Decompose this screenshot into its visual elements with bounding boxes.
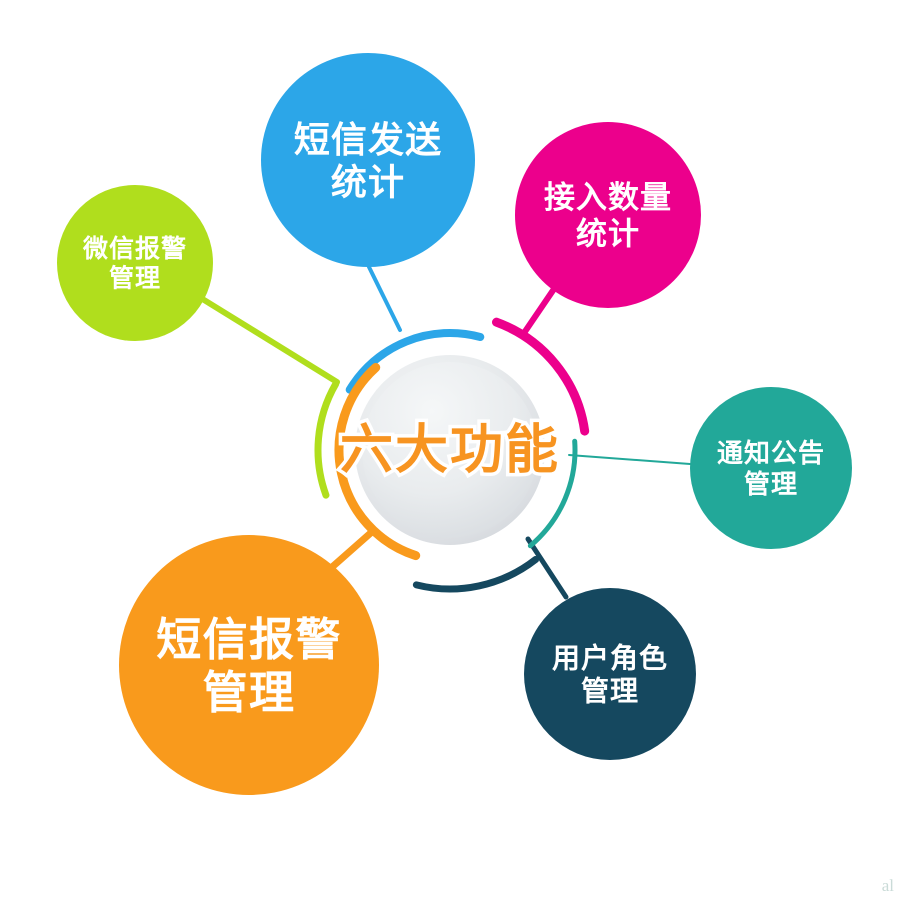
bubble-label-line: 管理 — [203, 667, 296, 718]
bubble-label-line: 微信报警 — [82, 235, 187, 263]
arc-navy — [416, 560, 535, 589]
center-text-layer: 六大功能 六大功能 — [340, 421, 560, 480]
bubble-label-line: 短信发送 — [294, 119, 442, 160]
bubble-sms-alarm-mgmt[interactable] — [119, 535, 379, 795]
bubble-label-line: 统计 — [576, 216, 640, 251]
connector-teal — [569, 455, 690, 464]
diagram-root: 六大功能 六大功能 短信发送统计接入数量统计微信报警管理通知公告管理用户角色管理… — [0, 0, 900, 900]
watermark-label: al — [882, 876, 894, 896]
diagram-canvas: 六大功能 六大功能 短信发送统计接入数量统计微信报警管理通知公告管理用户角色管理… — [0, 0, 900, 900]
bubble-label-line: 短信报警 — [156, 614, 341, 665]
bubble-label-line: 接入数量 — [544, 180, 672, 215]
center-title: 六大功能 — [340, 421, 560, 480]
bubble-label-line: 管理 — [109, 263, 161, 292]
bubble-user-role-mgmt[interactable] — [524, 588, 696, 760]
bubble-label-line: 统计 — [331, 161, 405, 202]
bubble-wechat-alarm-mgmt[interactable] — [57, 185, 213, 341]
connector-green — [196, 295, 337, 382]
arc-green — [318, 384, 336, 495]
bubble-label-line: 管理 — [744, 469, 798, 499]
bubble-label-line: 用户角色 — [552, 642, 668, 674]
bubble-label-line: 管理 — [581, 675, 639, 707]
connector-blue — [369, 267, 400, 330]
bubble-access-count-stats[interactable] — [515, 122, 701, 308]
bubble-label-line: 通知公告 — [717, 438, 825, 468]
connector-navy — [528, 539, 566, 597]
connector-pink — [524, 286, 556, 333]
bubble-sms-send-stats[interactable] — [261, 53, 475, 267]
